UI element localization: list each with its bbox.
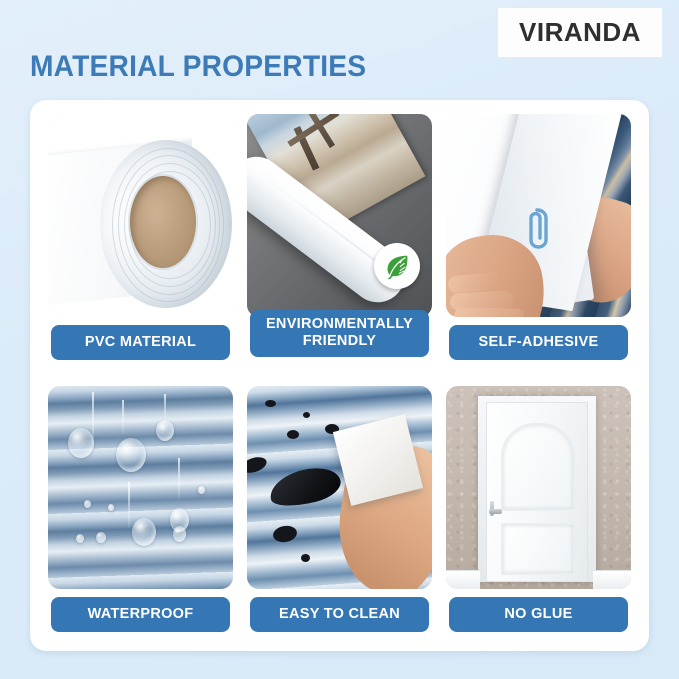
card-no-glue[interactable]: NO GLUE [446, 386, 631, 632]
card-easy-to-clean[interactable]: EASY TO CLEAN [247, 386, 432, 632]
brand-name: VIRANDA [519, 17, 641, 48]
cards-grid: PVC MATERIAL [48, 114, 631, 632]
label-line-1: ENVIRONMENTALLY [266, 316, 413, 332]
card-environmentally-friendly[interactable]: ENVIRONMENTALLYFRIENDLY [247, 114, 432, 360]
card-label-pvc-material: PVC MATERIAL [51, 325, 230, 360]
peeling-wallpaper-hands-photo [446, 114, 631, 317]
infographic-page: VIRANDA MATERIAL PROPERTIES [0, 0, 679, 679]
card-self-adhesive[interactable]: SELF-ADHESIVE [446, 114, 631, 360]
brand-logo-box: VIRANDA [498, 8, 662, 57]
card-label-self-adhesive: SELF-ADHESIVE [449, 325, 628, 360]
card-pvc-material[interactable]: PVC MATERIAL [48, 114, 233, 360]
green-leaf-icon [374, 243, 420, 289]
wiping-stain-photo [247, 386, 432, 589]
card-label-environmentally-friendly: ENVIRONMENTALLYFRIENDLY [250, 310, 429, 357]
cards-panel: PVC MATERIAL [30, 100, 649, 651]
label-line-2: FRIENDLY [303, 333, 377, 349]
card-label-waterproof: WATERPROOF [51, 597, 230, 632]
water-droplets-photo [48, 386, 233, 589]
card-label-no-glue: NO GLUE [449, 597, 628, 632]
page-title: MATERIAL PROPERTIES [30, 50, 366, 84]
card-waterproof[interactable]: WATERPROOF [48, 386, 233, 632]
card-label-easy-to-clean: EASY TO CLEAN [250, 597, 429, 632]
rolled-wallpaper-photo [247, 114, 432, 317]
pvc-roll-photo [48, 114, 233, 317]
white-door-photo [446, 386, 631, 589]
